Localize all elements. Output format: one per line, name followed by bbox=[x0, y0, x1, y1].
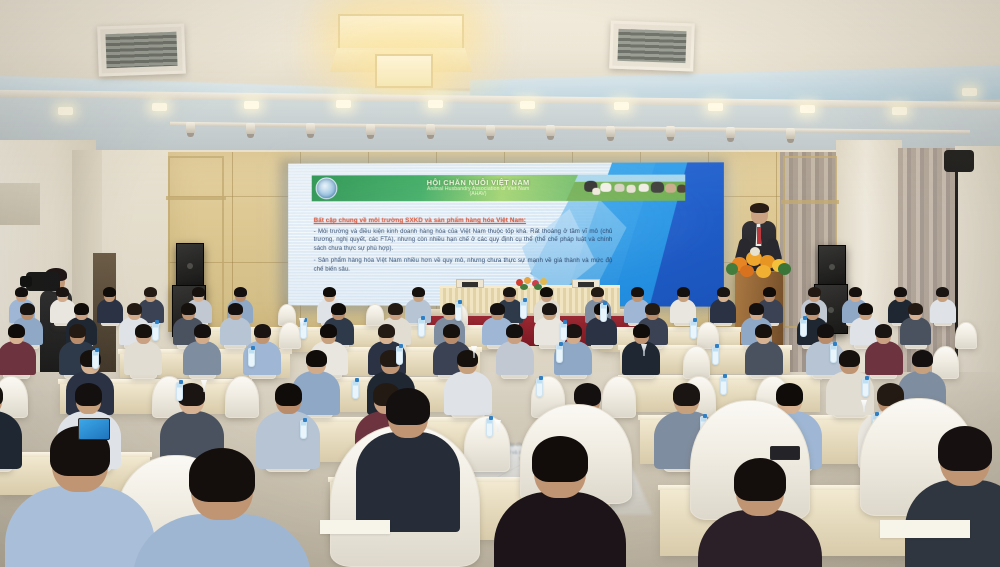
attendee-hair bbox=[591, 287, 604, 297]
attendee-hair bbox=[378, 324, 395, 338]
recessed-downlight-icon bbox=[962, 88, 977, 96]
farm-animal-shape bbox=[627, 185, 636, 193]
globe-logo-icon bbox=[316, 177, 338, 199]
attendee-body bbox=[220, 317, 251, 345]
flower-shape bbox=[778, 263, 791, 275]
attendee-hair bbox=[805, 303, 820, 315]
attendee-hair bbox=[320, 324, 337, 338]
attendee-hair bbox=[228, 303, 243, 315]
wall-metal-frame bbox=[166, 196, 226, 200]
camera-head-icon bbox=[944, 150, 974, 172]
water-bottle-icon bbox=[455, 302, 462, 321]
water-bottle-icon bbox=[830, 344, 837, 363]
attendee-hair bbox=[542, 303, 557, 315]
recessed-downlight-icon bbox=[892, 107, 907, 115]
water-bottle-icon bbox=[862, 378, 869, 397]
attendee-hair bbox=[936, 287, 949, 297]
attendee-hair bbox=[858, 303, 873, 315]
farm-animal-shape bbox=[651, 182, 664, 193]
slide-heading: Bất cập chung về môi trường SXKD và sản … bbox=[314, 217, 613, 224]
farm-animal-shape bbox=[592, 188, 600, 195]
track-spotlight-icon bbox=[426, 124, 435, 137]
camera-lens-icon bbox=[20, 276, 32, 287]
recessed-downlight-icon bbox=[58, 107, 73, 115]
water-bottle-icon bbox=[536, 378, 543, 397]
attendee-hair bbox=[677, 287, 690, 297]
attendee-body bbox=[930, 299, 956, 323]
presenter-hair bbox=[750, 203, 769, 213]
attendee-hair bbox=[181, 303, 196, 315]
attendee-hair bbox=[755, 324, 772, 338]
attendee-body bbox=[256, 411, 320, 469]
track-spotlight-icon bbox=[186, 122, 195, 135]
flower-shape bbox=[524, 277, 531, 284]
farm-animal-shape bbox=[614, 184, 624, 192]
attendee-hair bbox=[506, 324, 523, 338]
paper-document-icon bbox=[880, 520, 970, 538]
track-spotlight-icon bbox=[606, 126, 615, 139]
attendee-hair bbox=[388, 303, 403, 315]
attendee-body bbox=[622, 341, 660, 375]
water-bottle-icon bbox=[556, 344, 563, 363]
presenter-tie bbox=[757, 227, 761, 244]
attendee-hair bbox=[673, 383, 700, 406]
water-bottle-icon bbox=[418, 318, 425, 337]
recessed-downlight-icon bbox=[336, 100, 351, 108]
attendee-body bbox=[745, 341, 783, 375]
water-bottle-icon bbox=[600, 303, 607, 322]
water-bottle-icon bbox=[176, 382, 183, 401]
attendee-hair bbox=[849, 287, 862, 297]
flower-shape bbox=[756, 265, 771, 278]
recessed-downlight-icon bbox=[428, 100, 443, 108]
conference-hall-photo: HỘI CHĂN NUÔI VIỆT NAM Animal Husbandry … bbox=[0, 0, 1000, 567]
water-bottle-icon bbox=[720, 376, 727, 395]
water-bottle-icon bbox=[486, 418, 493, 437]
flower-shape bbox=[740, 265, 754, 277]
water-bottle-icon bbox=[690, 320, 697, 339]
track-spotlight-icon bbox=[726, 127, 735, 140]
attendee-hair bbox=[839, 350, 860, 367]
water-bottle-icon bbox=[352, 380, 359, 399]
smartphone-icon bbox=[770, 446, 800, 460]
attendee-hair bbox=[386, 388, 430, 425]
attendee-body bbox=[865, 341, 903, 375]
chair-with-cover bbox=[955, 322, 977, 349]
recessed-downlight-icon bbox=[708, 103, 723, 111]
attendee-hair bbox=[412, 287, 425, 297]
square-pendant-light-icon bbox=[330, 10, 472, 92]
attendee-hair bbox=[323, 287, 336, 297]
attendee-hair bbox=[144, 287, 157, 297]
attendee-hair bbox=[749, 303, 764, 315]
attendee-hair bbox=[633, 324, 650, 338]
attendee-hair bbox=[15, 287, 28, 297]
attendee-body bbox=[124, 341, 162, 375]
attendee-hair bbox=[734, 458, 786, 501]
ceiling-ac-vent-icon bbox=[97, 23, 186, 76]
recessed-downlight-icon bbox=[520, 101, 535, 109]
attendee-hair bbox=[331, 303, 346, 315]
attendee-hair bbox=[75, 383, 102, 406]
slide-text-block: Bất cập chung về môi trường SXKD và sản … bbox=[314, 217, 613, 278]
chair-with-cover bbox=[225, 376, 259, 418]
attendee-hair bbox=[717, 287, 730, 297]
recessed-downlight-icon bbox=[614, 102, 629, 110]
track-spotlight-icon bbox=[366, 124, 375, 137]
wall-alcove bbox=[0, 183, 40, 225]
slide-bullet-2: - Sản phẩm hàng hóa Việt Nam nhiều hơn v… bbox=[314, 257, 613, 275]
flower-shape bbox=[750, 247, 760, 256]
pa-speaker-icon bbox=[176, 243, 204, 287]
attendee-hair bbox=[540, 287, 553, 297]
slide-bullet-1: - Môi trường và điều kiện kinh doanh hàn… bbox=[314, 227, 613, 253]
chair-with-cover bbox=[602, 376, 636, 418]
attendee-hair bbox=[503, 287, 516, 297]
attendee-body bbox=[356, 432, 460, 532]
attendee-hair bbox=[234, 287, 247, 297]
water-bottle-icon bbox=[92, 350, 99, 369]
water-bottle-icon bbox=[520, 300, 527, 319]
recessed-downlight-icon bbox=[152, 103, 167, 111]
far-right-wall bbox=[955, 146, 1000, 386]
chair-with-cover bbox=[683, 346, 710, 379]
attendee-hair bbox=[532, 436, 588, 482]
attendee-hair bbox=[490, 303, 505, 315]
attendee-hair bbox=[631, 287, 644, 297]
water-bottle-icon bbox=[560, 322, 567, 341]
attendee-body bbox=[97, 299, 123, 323]
table-top-edge bbox=[598, 327, 742, 332]
attendee-body bbox=[183, 341, 221, 375]
farm-animal-shape bbox=[665, 184, 676, 193]
farm-animal-shape bbox=[600, 183, 611, 192]
flower-shape bbox=[520, 284, 528, 290]
track-spotlight-icon bbox=[786, 128, 795, 141]
water-bottle-icon bbox=[712, 346, 719, 365]
attendee-hair bbox=[135, 324, 152, 338]
attendee-hair bbox=[817, 324, 834, 338]
ceiling-ac-vent-icon bbox=[609, 21, 695, 72]
attendee-hair bbox=[254, 324, 271, 338]
attendee-hair bbox=[776, 383, 803, 406]
attendee-hair bbox=[574, 383, 601, 406]
water-bottle-icon bbox=[248, 348, 255, 367]
attendee-body bbox=[444, 371, 492, 415]
attendee-hair bbox=[103, 287, 116, 297]
attendee-hair bbox=[908, 303, 923, 315]
recessed-downlight-icon bbox=[244, 101, 259, 109]
pa-speaker-icon bbox=[818, 245, 846, 287]
smartphone-icon bbox=[78, 418, 110, 440]
track-spotlight-icon bbox=[546, 125, 555, 138]
attendee-hair bbox=[189, 448, 255, 502]
attendee-hair bbox=[565, 324, 582, 338]
chair-with-cover bbox=[279, 322, 301, 349]
attendee-body bbox=[496, 341, 534, 375]
attendee-body bbox=[0, 341, 36, 375]
attendee-hair bbox=[912, 350, 933, 367]
paper-document-icon bbox=[320, 520, 390, 534]
flower-shape bbox=[726, 263, 738, 275]
farm-animal-shape bbox=[677, 185, 685, 193]
attendee-hair bbox=[938, 426, 992, 471]
table-nameplate-icon bbox=[456, 279, 484, 288]
water-bottle-icon bbox=[396, 346, 403, 365]
attendee-hair bbox=[69, 324, 86, 338]
flower-shape bbox=[540, 278, 547, 285]
track-spotlight-icon bbox=[246, 123, 255, 136]
attendee-hair bbox=[20, 303, 35, 315]
attendee-body bbox=[5, 486, 155, 567]
attendee-body bbox=[900, 317, 931, 345]
wall-metal-frame bbox=[781, 200, 839, 204]
farm-animal-shape bbox=[639, 184, 649, 192]
attendee-hair bbox=[74, 303, 89, 315]
attendee-hair bbox=[894, 287, 907, 297]
attendee-hair bbox=[763, 287, 776, 297]
attendee-hair bbox=[8, 324, 25, 338]
track-spotlight-icon bbox=[306, 123, 315, 136]
attendee-hair bbox=[194, 324, 211, 338]
attendee-hair bbox=[127, 303, 142, 315]
attendee-body bbox=[710, 299, 736, 323]
attendee-hair bbox=[808, 287, 821, 297]
track-spotlight-icon bbox=[666, 126, 675, 139]
podium-flower-arrangement-icon bbox=[726, 247, 792, 277]
attendee-hair bbox=[645, 303, 660, 315]
track-spotlight-icon bbox=[486, 125, 495, 138]
water-bottle-icon bbox=[300, 420, 307, 439]
attendee-hair bbox=[306, 350, 327, 367]
attendee-body bbox=[494, 492, 626, 567]
water-bottle-icon bbox=[800, 318, 807, 337]
attendee-hair bbox=[875, 324, 892, 338]
farm-animals-photo bbox=[566, 175, 685, 201]
recessed-downlight-icon bbox=[800, 105, 815, 113]
water-bottle-icon bbox=[152, 322, 159, 341]
attendee-hair bbox=[443, 324, 460, 338]
attendee-hair bbox=[192, 287, 205, 297]
attendee-hair bbox=[275, 383, 302, 406]
attendee-hair bbox=[56, 287, 69, 297]
attendee-hair bbox=[457, 350, 478, 367]
